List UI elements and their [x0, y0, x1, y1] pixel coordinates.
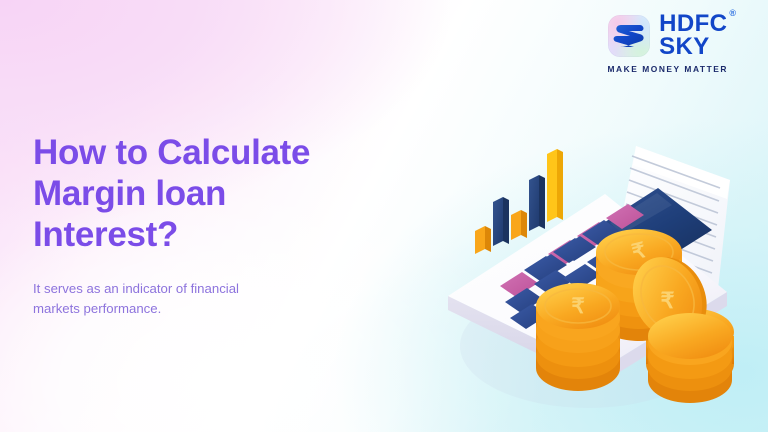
logo-row: HDFC ® SKY [608, 13, 727, 58]
page-title: How to Calculate Margin loan Interest? [33, 133, 423, 256]
copy-block: How to Calculate Margin loan Interest? I… [33, 133, 423, 319]
page-subtitle: It serves as an indicator of financial m… [33, 279, 423, 319]
rupee-symbol: ₹ [571, 295, 584, 318]
bar-1 [475, 226, 491, 254]
hdfc-sky-logo[interactable]: HDFC ® SKY MAKE MONEY MATTER [608, 13, 729, 74]
rupee-symbol: ₹ [661, 288, 675, 313]
coin-stack-front-right [648, 313, 732, 403]
banner-root: HDFC ® SKY MAKE MONEY MATTER How to Calc… [0, 0, 768, 432]
bar-3 [511, 210, 527, 240]
logo-wordmark: HDFC ® SKY [659, 13, 727, 58]
logo-brand-hdfc: HDFC ® [659, 13, 727, 36]
bar-5 [547, 149, 563, 222]
logo-brand-hdfc-text: HDFC [659, 10, 727, 37]
hdfc-sky-mark-icon [608, 15, 650, 57]
hero-illustration: ₹ ₹ [400, 84, 768, 432]
logo-tagline: MAKE MONEY MATTER [608, 64, 729, 74]
bar-4 [529, 175, 545, 231]
registered-trademark-icon: ® [729, 9, 736, 17]
logo-brand-sky: SKY [659, 36, 727, 59]
bar-2 [493, 197, 509, 246]
coin-stack-front-left: ₹ [536, 283, 620, 391]
